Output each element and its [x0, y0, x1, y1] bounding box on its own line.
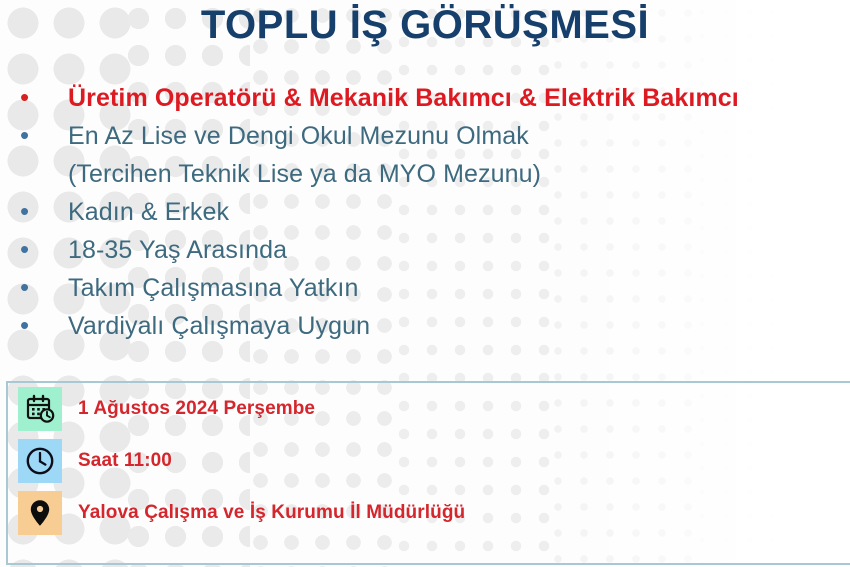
list-item: • Üretim Operatörü & Mekanik Bakımcı & E… — [16, 84, 840, 122]
event-time-text: Saat 11:00 — [78, 450, 172, 472]
bullet-marker-icon: • — [16, 198, 68, 224]
list-item: • Vardiyalı Çalışmaya Uygun — [16, 312, 840, 350]
requirement-text: 18-35 Yaş Arasında — [68, 236, 287, 265]
bullet-marker-icon: • — [16, 274, 68, 300]
list-item: • En Az Lise ve Dengi Okul Mezunu Olmak — [16, 122, 840, 160]
list-item: • Takım Çalışmasına Yatkın — [16, 274, 840, 312]
event-details-box: 1 Ağustos 2024 Perşembe Saat 11:00 — [6, 381, 850, 565]
bullet-marker-icon: • — [16, 236, 68, 262]
list-item: • (Tercihen Teknik Lise ya da MYO Mezunu… — [16, 160, 840, 198]
event-location-text: Yalova Çalışma ve İş Kurumu İl Müdürlüğü — [78, 502, 465, 524]
requirements-list: • Üretim Operatörü & Mekanik Bakımcı & E… — [16, 84, 840, 350]
list-item: • Kadın & Erkek — [16, 198, 840, 236]
requirement-text: Takım Çalışmasına Yatkın — [68, 274, 358, 303]
event-date-text: 1 Ağustos 2024 Perşembe — [78, 398, 315, 420]
requirement-text: (Tercihen Teknik Lise ya da MYO Mezunu) — [68, 160, 541, 189]
bullet-marker-icon: • — [16, 84, 68, 110]
bullet-marker-icon: • — [16, 312, 68, 338]
requirement-text: En Az Lise ve Dengi Okul Mezunu Olmak — [68, 122, 529, 151]
detail-row-time: Saat 11:00 — [8, 435, 850, 487]
page-title: TOPLU İŞ GÖRÜŞMESİ — [0, 2, 850, 48]
poster-canvas: TOPLU İŞ GÖRÜŞMESİ • Üretim Operatörü & … — [0, 0, 850, 567]
requirement-text: Üretim Operatörü & Mekanik Bakımcı & Ele… — [68, 84, 739, 113]
detail-row-date: 1 Ağustos 2024 Perşembe — [8, 383, 850, 435]
clock-icon — [18, 439, 62, 483]
location-pin-icon — [18, 491, 62, 535]
requirement-text: Vardiyalı Çalışmaya Uygun — [68, 312, 370, 341]
detail-row-location: Yalova Çalışma ve İş Kurumu İl Müdürlüğü — [8, 487, 850, 539]
requirement-text: Kadın & Erkek — [68, 198, 229, 227]
list-item: • 18-35 Yaş Arasında — [16, 236, 840, 274]
calendar-clock-icon — [18, 387, 62, 431]
bullet-marker-icon: • — [16, 122, 68, 148]
poster-content: TOPLU İŞ GÖRÜŞMESİ • Üretim Operatörü & … — [0, 0, 850, 567]
